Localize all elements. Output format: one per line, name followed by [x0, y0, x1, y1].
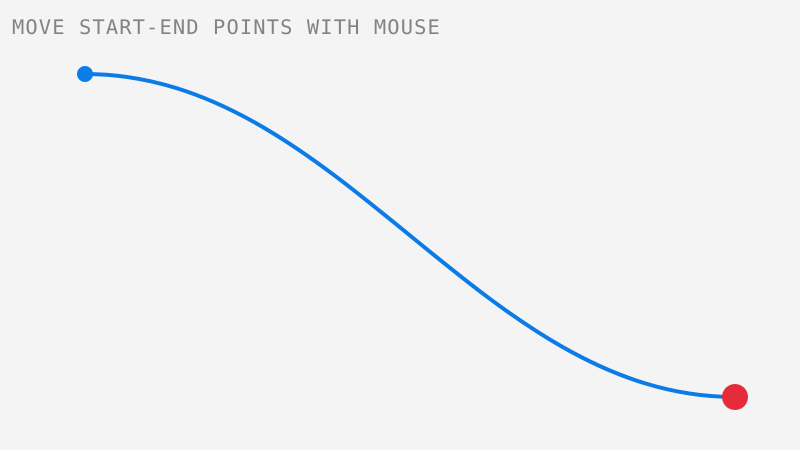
- end-point-handle[interactable]: [722, 384, 748, 410]
- app-root: MOVE START-END POINTS WITH MOUSE: [0, 0, 800, 450]
- start-point-handle[interactable]: [77, 66, 93, 82]
- page-title: MOVE START-END POINTS WITH MOUSE: [12, 16, 441, 38]
- bezier-canvas[interactable]: [0, 0, 800, 450]
